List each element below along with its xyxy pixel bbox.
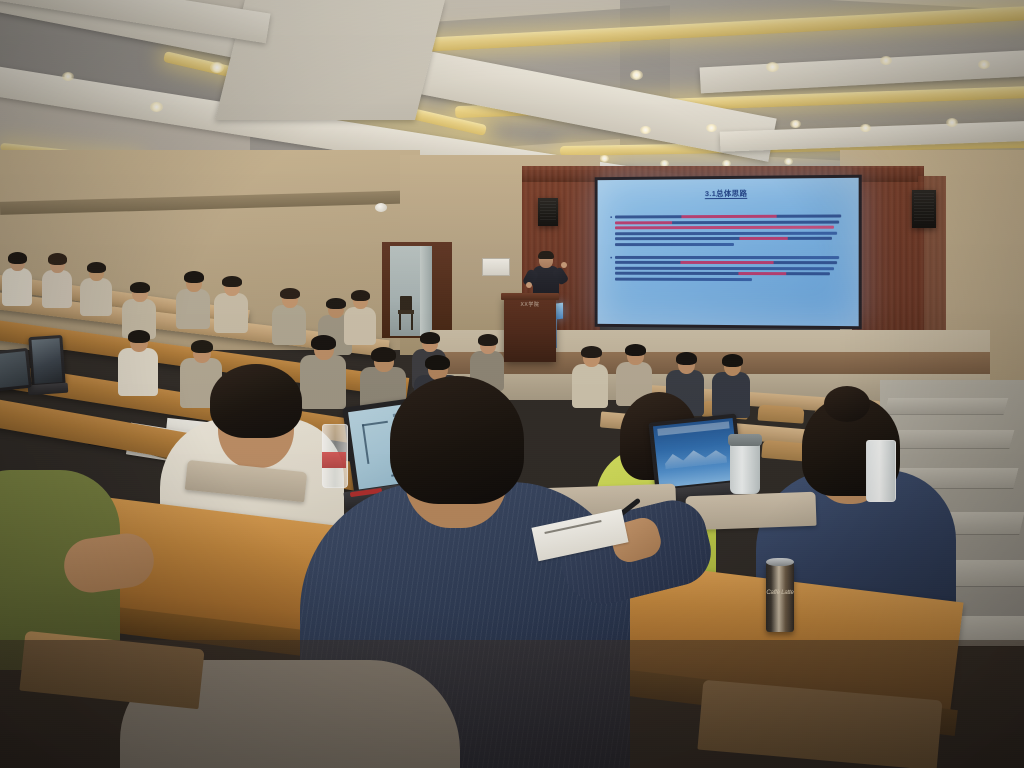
- coffee-can-top: [766, 558, 794, 566]
- floor: [0, 640, 1024, 768]
- bullet-marker: •: [610, 256, 612, 284]
- downlight: [62, 72, 74, 81]
- downlight: [946, 118, 958, 127]
- speaker-grill: [914, 193, 934, 222]
- smoke-detector-icon: [375, 203, 387, 212]
- downlight: [880, 56, 892, 65]
- presenter-hair: [538, 251, 554, 259]
- speaker-stage-left: [538, 198, 558, 226]
- downlight: [978, 60, 990, 69]
- wall-sign: [482, 258, 510, 276]
- presenter-hand-left: [526, 282, 532, 288]
- presenter-hand-right: [561, 262, 567, 268]
- door-leaf[interactable]: [420, 246, 432, 336]
- corridor-chair: [398, 296, 414, 330]
- slide-bullet-1: •: [610, 214, 846, 248]
- downlight: [790, 120, 801, 128]
- coffee-can[interactable]: Caffè Latte: [766, 562, 794, 632]
- bullet-marker: •: [610, 216, 612, 249]
- coffee-can-label: Caffè Latte: [766, 590, 794, 596]
- tablet-screen: [31, 338, 62, 384]
- downlight: [784, 158, 793, 165]
- downlight: [600, 155, 609, 162]
- downlight: [706, 124, 717, 132]
- projection-screen-frame: 3.1总体思路 • •: [595, 175, 862, 330]
- downlight: [860, 124, 871, 132]
- bullet-text-lines: [615, 214, 846, 248]
- podium-sign-text: XX学院: [508, 302, 552, 309]
- thermos-cup[interactable]: [730, 440, 760, 494]
- downlight: [630, 70, 643, 80]
- speaker-grill: [540, 201, 556, 220]
- projection-screen: 3.1总体思路 • •: [598, 178, 859, 326]
- thermos-lid: [728, 434, 762, 446]
- aisle-step: [882, 430, 1015, 448]
- laptop-screen: [0, 351, 29, 389]
- podium-top-surface: [501, 293, 559, 300]
- bottle-label: [322, 452, 346, 468]
- laptop-screen: [653, 418, 739, 488]
- water-bottle-right[interactable]: [866, 440, 896, 502]
- seat-empty[interactable]: [757, 404, 804, 423]
- bullet-text-lines: [615, 256, 846, 284]
- downlight: [640, 126, 651, 134]
- slide-bullet-2: •: [610, 256, 846, 284]
- slide-title: 3.1总体思路: [598, 187, 859, 200]
- downlight: [766, 62, 779, 72]
- downlight: [210, 62, 224, 73]
- slide-title-text: 3.1总体思路: [705, 189, 747, 198]
- hair-bun: [824, 386, 870, 422]
- aisle-step: [884, 398, 1009, 414]
- speaker-stage-right-upper: [912, 190, 936, 228]
- slide-body: • •: [610, 214, 846, 291]
- downlight: [150, 102, 163, 112]
- lecture-hall-photo: 3.1总体思路 • •: [0, 0, 1024, 768]
